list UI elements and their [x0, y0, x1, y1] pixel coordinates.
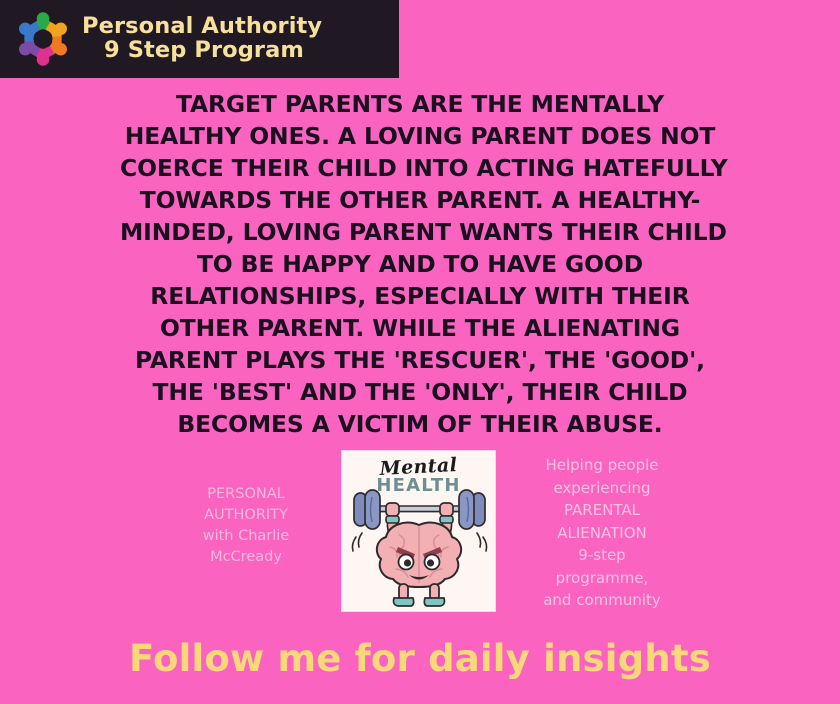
tagline-line: 9-step [522, 544, 682, 567]
people-circle-logo [10, 6, 76, 72]
quote-line: TOWARDS THE OTHER PARENT. A HEALTHY- [120, 184, 720, 216]
brand-credit: PERSONAL AUTHORITY with Charlie McCready [176, 484, 316, 568]
tagline-line: PARENTAL [522, 499, 682, 522]
card-title-script: Mental [342, 453, 496, 481]
header-title-group: Personal Authority 9 Step Program [82, 15, 322, 63]
brand-credit-line: with Charlie [176, 526, 316, 547]
poster-canvas: Personal Authority 9 Step Program TARGET… [0, 0, 840, 704]
quote-line: PARENT PLAYS THE 'RESCUER', THE 'GOOD', [120, 344, 720, 376]
brand-credit-line: McCready [176, 547, 316, 568]
mental-health-card: Mental HEALTH [341, 450, 496, 612]
quote-line: RELATIONSHIPS, ESPECIALLY WITH THEIR [120, 280, 720, 312]
tagline-line: ALIENATION [522, 522, 682, 545]
middle-row: PERSONAL AUTHORITY with Charlie McCready… [0, 448, 840, 618]
quote-text: TARGET PARENTS ARE THE MENTALLY HEALTHY … [120, 88, 720, 440]
tagline-line: programme, [522, 567, 682, 590]
quote-line: TARGET PARENTS ARE THE MENTALLY [120, 88, 720, 120]
quote-line: HEALTHY ONES. A LOVING PARENT DOES NOT [120, 120, 720, 152]
brand-credit-line: AUTHORITY [176, 505, 316, 526]
brand-credit-line: PERSONAL [176, 484, 316, 505]
tagline-line: and community [522, 589, 682, 612]
tagline-line: Helping people [522, 454, 682, 477]
quote-line: TO BE HAPPY AND TO HAVE GOOD [120, 248, 720, 280]
follow-cta: Follow me for daily insights [0, 636, 840, 682]
quote-line: OTHER PARENT. WHILE THE ALIENATING [120, 312, 720, 344]
quote-line: MINDED, LOVING PARENT WANTS THEIR CHILD [120, 216, 720, 248]
tagline-text: Helping people experiencing PARENTAL ALI… [522, 454, 682, 612]
header-title-line-1: Personal Authority [82, 15, 322, 39]
quote-line: BECOMES A VICTIM OF THEIR ABUSE. [120, 408, 720, 440]
brain-lifting-barbell-icon [342, 485, 496, 611]
quote-line: THE 'BEST' AND THE 'ONLY', THEIR CHILD [120, 376, 720, 408]
tagline-line: experiencing [522, 477, 682, 500]
header-title-line-2: 9 Step Program [82, 39, 322, 63]
header-banner: Personal Authority 9 Step Program [0, 0, 399, 78]
quote-line: COERCE THEIR CHILD INTO ACTING HATEFULLY [120, 152, 720, 184]
